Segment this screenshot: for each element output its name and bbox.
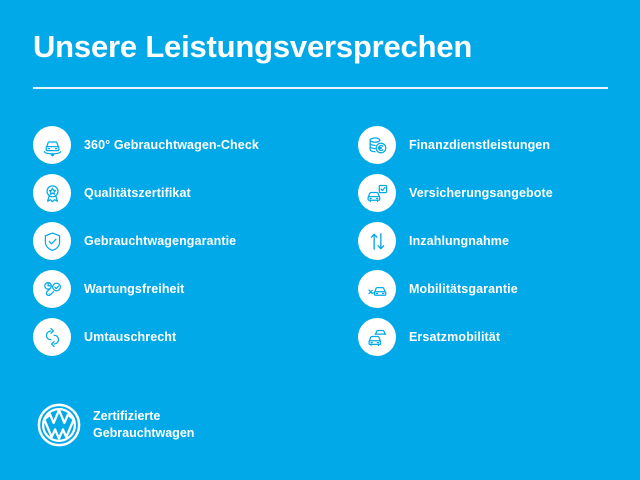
promise-item-ersatzmobilitaet: Ersatzmobilität <box>358 318 633 356</box>
promise-label: Mobilitätsgarantie <box>409 282 518 296</box>
promise-item-gebrauchtwagen-check: 360° Gebrauchtwagen-Check <box>33 126 333 164</box>
brand-text: Zertifizierte Gebrauchtwagen <box>93 408 194 442</box>
page-title: Unsere Leistungsversprechen <box>33 28 608 66</box>
volkswagen-logo <box>36 402 82 448</box>
promise-label: Wartungsfreiheit <box>84 282 184 296</box>
promise-item-inzahlungnahme: Inzahlungnahme <box>358 222 633 260</box>
promises-poster: Unsere Leistungsversprechen 360° Gebrauc… <box>0 0 640 480</box>
car-360-check-icon <box>33 126 71 164</box>
promise-label: Umtauschrecht <box>84 330 176 344</box>
promises-column-right: Finanzdienstleistungen Versicherungsange… <box>358 126 633 366</box>
exchange-arrows-icon <box>33 318 71 356</box>
promise-label: 360° Gebrauchtwagen-Check <box>84 138 259 152</box>
promise-label: Ersatzmobilität <box>409 330 500 344</box>
promise-label: Inzahlungnahme <box>409 234 509 248</box>
promise-label: Versicherungsangebote <box>409 186 553 200</box>
promise-item-umtauschrecht: Umtauschrecht <box>33 318 333 356</box>
promise-item-versicherungsangebote: Versicherungsangebote <box>358 174 633 212</box>
car-insurance-check-icon <box>358 174 396 212</box>
brand-lockup: Zertifizierte Gebrauchtwagen <box>36 402 194 448</box>
brand-text-line1: Zertifizierte <box>93 408 194 425</box>
coins-euro-icon <box>358 126 396 164</box>
promise-label: Finanzdienstleistungen <box>409 138 550 152</box>
shield-check-icon <box>33 222 71 260</box>
car-tow-icon <box>358 270 396 308</box>
promise-label: Gebrauchtwagengarantie <box>84 234 236 248</box>
up-down-arrows-icon <box>358 222 396 260</box>
promise-label: Qualitätszertifikat <box>84 186 191 200</box>
promise-item-gebrauchtwagengarantie: Gebrauchtwagengarantie <box>33 222 333 260</box>
promise-item-finanzdienstleistungen: Finanzdienstleistungen <box>358 126 633 164</box>
promises-column-left: 360° Gebrauchtwagen-Check Qualitätszerti… <box>33 126 333 366</box>
promise-item-wartungsfreiheit: Wartungsfreiheit <box>33 270 333 308</box>
wrench-check-icon <box>33 270 71 308</box>
quality-seal-icon <box>33 174 71 212</box>
brand-text-line2: Gebrauchtwagen <box>93 425 194 442</box>
promise-item-mobilitaetsgarantie: Mobilitätsgarantie <box>358 270 633 308</box>
promise-item-qualitaetszertifikat: Qualitätszertifikat <box>33 174 333 212</box>
two-cars-icon <box>358 318 396 356</box>
title-divider <box>33 87 608 89</box>
header: Unsere Leistungsversprechen <box>33 28 608 66</box>
